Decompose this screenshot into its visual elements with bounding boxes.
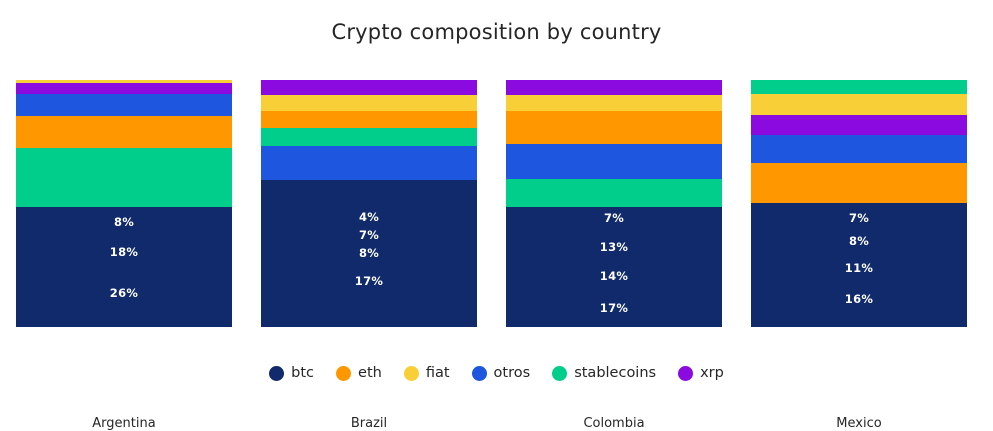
bar-segment-xrp[interactable] (751, 115, 967, 135)
bar-segment-stablecoins[interactable] (506, 179, 722, 207)
bar-segment-btc[interactable] (751, 203, 967, 327)
chart-plot-area: 8%18%26%Argentina4%7%8%17%Brazil7%13%14%… (0, 0, 993, 420)
bar-stack: 8%18%26% (16, 80, 232, 327)
bar-group-argentina: 8%18%26%Argentina (16, 80, 232, 327)
legend-label: fiat (426, 365, 450, 381)
legend-label: btc (291, 365, 314, 381)
circle-marker-icon (269, 366, 284, 381)
bar-segment-eth[interactable] (261, 111, 477, 128)
bar-segment-eth[interactable] (16, 116, 232, 148)
chart-legend: btcethfiatotrosstablecoinsxrp (0, 365, 993, 381)
bar-segment-fiat[interactable] (751, 94, 967, 115)
bar-segment-fiat[interactable] (261, 95, 477, 111)
legend-item-fiat[interactable]: fiat (404, 365, 450, 381)
bar-segment-otros[interactable] (261, 146, 477, 180)
bar-stack: 7%8%11%16% (751, 80, 967, 327)
bar-segment-btc[interactable] (261, 180, 477, 327)
bar-segment-xrp[interactable] (16, 83, 232, 94)
bar-segment-eth[interactable] (751, 163, 967, 203)
bar-segment-btc[interactable] (506, 207, 722, 327)
legend-item-stablecoins[interactable]: stablecoins (552, 365, 656, 381)
bar-segment-xrp[interactable] (261, 80, 477, 95)
bar-segment-xrp[interactable] (506, 80, 722, 95)
bar-segment-btc[interactable] (16, 207, 232, 327)
circle-marker-icon (678, 366, 693, 381)
category-label-mexico: Mexico (751, 416, 967, 431)
bar-segment-stablecoins[interactable] (16, 148, 232, 207)
circle-marker-icon (552, 366, 567, 381)
category-label-brazil: Brazil (261, 416, 477, 431)
bar-stack: 7%13%14%17% (506, 80, 722, 327)
legend-item-xrp[interactable]: xrp (678, 365, 724, 381)
bar-group-mexico: 7%8%11%16%Mexico (751, 80, 967, 327)
circle-marker-icon (404, 366, 419, 381)
bar-segment-eth[interactable] (506, 111, 722, 144)
bar-stack: 4%7%8%17% (261, 80, 477, 327)
bar-segment-otros[interactable] (751, 135, 967, 163)
category-label-argentina: Argentina (16, 416, 232, 431)
legend-item-otros[interactable]: otros (472, 365, 531, 381)
legend-item-eth[interactable]: eth (336, 365, 382, 381)
bar-group-colombia: 7%13%14%17%Colombia (506, 80, 722, 327)
circle-marker-icon (472, 366, 487, 381)
legend-label: stablecoins (574, 365, 656, 381)
bar-segment-stablecoins[interactable] (261, 128, 477, 146)
bar-segment-otros[interactable] (16, 94, 232, 116)
bar-segment-stablecoins[interactable] (751, 80, 967, 94)
bar-segment-fiat[interactable] (506, 95, 722, 111)
bar-segment-otros[interactable] (506, 144, 722, 179)
legend-item-btc[interactable]: btc (269, 365, 314, 381)
category-label-colombia: Colombia (506, 416, 722, 431)
legend-label: otros (494, 365, 531, 381)
bar-group-brazil: 4%7%8%17%Brazil (261, 80, 477, 327)
legend-label: eth (358, 365, 382, 381)
circle-marker-icon (336, 366, 351, 381)
legend-label: xrp (700, 365, 724, 381)
